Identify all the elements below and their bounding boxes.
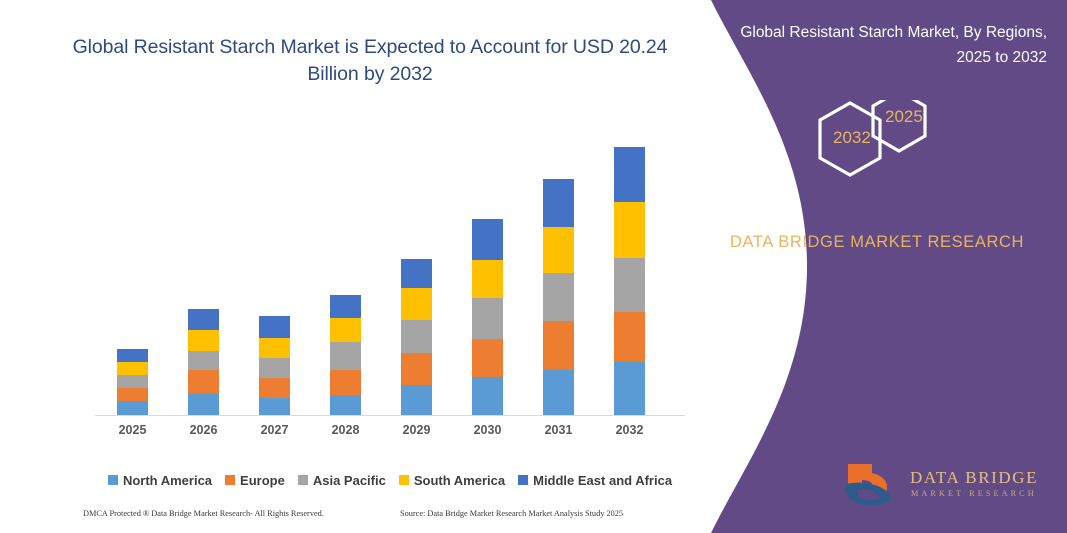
bar-2026 — [188, 309, 219, 415]
x-label-2027: 2027 — [245, 423, 305, 437]
bar-segment-2030-south-america — [472, 260, 503, 298]
legend-item-north-america[interactable]: North America — [108, 473, 212, 488]
bar-segment-2026-north-america — [188, 394, 219, 415]
bar-segment-2032-europe — [614, 312, 645, 362]
bar-segment-2032-north-america — [614, 362, 645, 415]
bar-segment-2028-middle-east-and-africa — [330, 295, 361, 318]
panel-content: Global Resistant Starch Market, By Regio… — [687, 0, 1067, 533]
bar-segment-2028-europe — [330, 370, 361, 395]
bar-segment-2031-middle-east-and-africa — [543, 179, 574, 227]
bar-2029 — [401, 259, 432, 415]
db-monogram-icon — [842, 458, 906, 510]
legend-item-south-america[interactable]: South America — [399, 473, 505, 488]
legend-label: South America — [414, 473, 505, 488]
legend-swatch-icon — [225, 475, 235, 485]
bar-segment-2031-asia-pacific — [543, 273, 574, 321]
bar-2025 — [117, 349, 148, 415]
x-axis-labels: 20252026202720282029203020312032 — [95, 423, 685, 443]
footer-copyright: DMCA Protected ® Data Bridge Market Rese… — [83, 509, 324, 518]
chart-legend: North AmericaEuropeAsia PacificSouth Ame… — [95, 470, 685, 490]
bar-segment-2026-south-america — [188, 330, 219, 351]
legend-swatch-icon — [108, 475, 118, 485]
bar-2028 — [330, 295, 361, 415]
bar-segment-2025-north-america — [117, 401, 148, 415]
x-label-2032: 2032 — [600, 423, 660, 437]
legend-label: North America — [123, 473, 212, 488]
bar-segment-2026-asia-pacific — [188, 351, 219, 370]
legend-swatch-icon — [518, 475, 528, 485]
bar-segment-2025-europe — [117, 388, 148, 401]
hexagon-outlines-icon — [775, 100, 975, 205]
bar-segment-2032-south-america — [614, 202, 645, 258]
x-label-2029: 2029 — [387, 423, 447, 437]
footer-source: Source: Data Bridge Market Research Mark… — [400, 509, 623, 518]
bar-segment-2025-middle-east-and-africa — [117, 349, 148, 362]
x-label-2030: 2030 — [458, 423, 518, 437]
x-axis-line — [95, 415, 685, 416]
bar-segment-2025-asia-pacific — [117, 375, 148, 388]
legend-item-middle-east-and-africa[interactable]: Middle East and Africa — [518, 473, 672, 488]
bar-segment-2028-north-america — [330, 395, 361, 415]
bar-2030 — [472, 219, 503, 415]
hexagon-label-2025: 2025 — [885, 107, 923, 127]
hexagon-group: 2032 2025 — [775, 100, 975, 205]
bar-segment-2030-europe — [472, 339, 503, 377]
hexagon-label-2032: 2032 — [833, 128, 871, 148]
slide-root: Global Resistant Starch Market is Expect… — [0, 0, 1067, 533]
bar-segment-2027-middle-east-and-africa — [259, 316, 290, 338]
bar-segment-2026-europe — [188, 370, 219, 394]
bar-segment-2029-asia-pacific — [401, 320, 432, 353]
legend-item-europe[interactable]: Europe — [225, 473, 285, 488]
x-label-2028: 2028 — [316, 423, 376, 437]
logo-primary-text: DATA BRIDGE — [910, 468, 1038, 488]
bar-segment-2027-asia-pacific — [259, 358, 290, 378]
bar-segment-2029-south-america — [401, 288, 432, 320]
panel-title: Global Resistant Starch Market, By Regio… — [727, 20, 1047, 70]
x-label-2026: 2026 — [174, 423, 234, 437]
legend-label: Middle East and Africa — [533, 473, 672, 488]
legend-swatch-icon — [399, 475, 409, 485]
bar-segment-2031-south-america — [543, 227, 574, 273]
legend-label: Asia Pacific — [313, 473, 386, 488]
bar-segment-2030-north-america — [472, 377, 503, 415]
bar-segment-2030-middle-east-and-africa — [472, 219, 503, 260]
bar-segment-2032-middle-east-and-africa — [614, 147, 645, 202]
branding-panel: Global Resistant Starch Market, By Regio… — [687, 0, 1067, 533]
x-label-2025: 2025 — [103, 423, 163, 437]
bar-segment-2028-asia-pacific — [330, 342, 361, 370]
legend-swatch-icon — [298, 475, 308, 485]
x-label-2031: 2031 — [529, 423, 589, 437]
bar-segment-2032-asia-pacific — [614, 258, 645, 312]
bar-segment-2028-south-america — [330, 318, 361, 342]
chart-panel: Global Resistant Starch Market is Expect… — [0, 0, 720, 533]
brand-name: DATA BRIDGE MARKET RESEARCH — [727, 228, 1027, 256]
bar-segment-2029-middle-east-and-africa — [401, 259, 432, 288]
data-bridge-logo: DATA BRIDGE MARKET RESEARCH — [842, 458, 1057, 516]
bar-segment-2029-north-america — [401, 385, 432, 415]
bar-segment-2029-europe — [401, 353, 432, 385]
bar-2031 — [543, 179, 574, 415]
bar-segment-2030-asia-pacific — [472, 298, 503, 339]
bar-2027 — [259, 316, 290, 415]
bar-segment-2027-south-america — [259, 338, 290, 358]
legend-label: Europe — [240, 473, 285, 488]
bar-2032 — [614, 147, 645, 415]
bar-chart-plot — [95, 110, 685, 416]
bar-segment-2027-europe — [259, 378, 290, 398]
footer: DMCA Protected ® Data Bridge Market Rese… — [83, 509, 683, 523]
bar-segment-2031-europe — [543, 321, 574, 370]
bar-segment-2025-south-america — [117, 362, 148, 375]
bar-segment-2026-middle-east-and-africa — [188, 309, 219, 330]
bar-segment-2027-north-america — [259, 398, 290, 415]
bar-segment-2031-north-america — [543, 370, 574, 415]
legend-item-asia-pacific[interactable]: Asia Pacific — [298, 473, 386, 488]
logo-secondary-text: MARKET RESEARCH — [911, 489, 1037, 498]
chart-title: Global Resistant Starch Market is Expect… — [70, 34, 670, 88]
